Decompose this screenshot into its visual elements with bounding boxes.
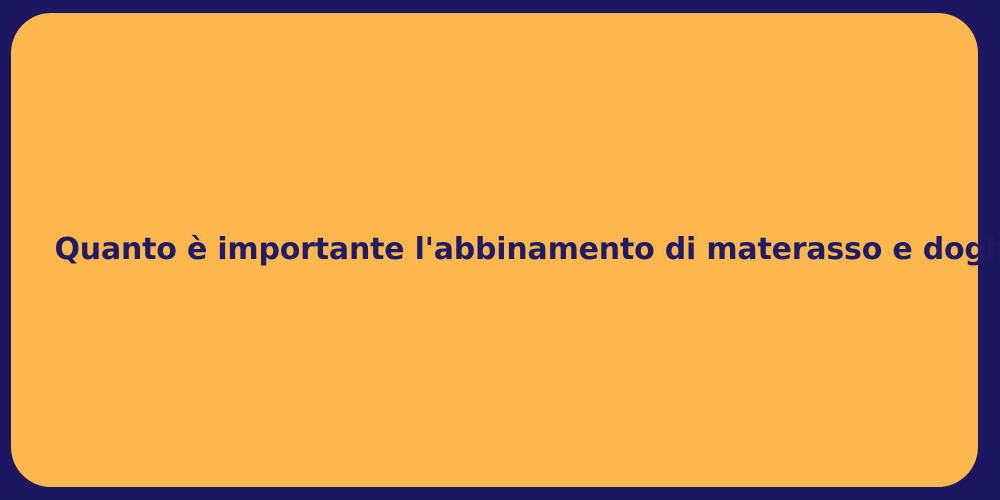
banner-headline: Quanto è importante l'abbinamento di mat… xyxy=(55,230,935,270)
banner-panel: Quanto è importante l'abbinamento di mat… xyxy=(11,13,978,487)
banner-frame: Quanto è importante l'abbinamento di mat… xyxy=(0,0,1000,500)
